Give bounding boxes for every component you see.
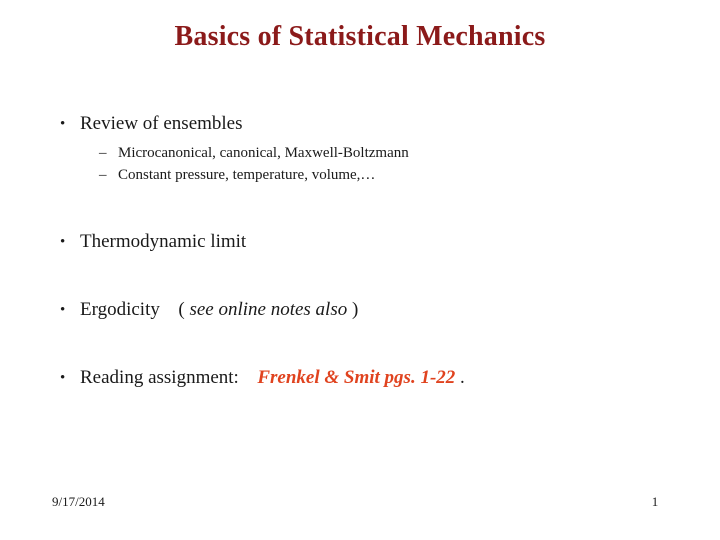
dash-marker-icon: – [99,164,107,186]
dash-marker-icon: – [99,142,107,164]
note-italic-label: see online notes also [189,299,347,320]
bullet-item-reading-assignment: • Reading assignment: Frenkel & Smit pgs… [55,366,665,390]
spacer [55,322,665,366]
spacer [55,254,665,298]
spacer [55,186,665,230]
sub-bullet-item-microcanonical: – Microcanonical, canonical, Maxwell-Bol… [55,142,665,164]
bullet-label: Reading assignment: [80,367,239,388]
bullet-marker-icon: • [60,112,65,136]
footer-page-number: 1 [640,494,670,510]
bullet-item-review-of-ensembles: • Review of ensembles [55,112,665,136]
sub-bullet-label: Microcanonical, canonical, Maxwell-Boltz… [118,145,409,161]
reading-reference-label: Frenkel & Smit pgs. 1-22 [257,367,455,388]
bullet-item-ergodicity: • Ergodicity ( see online notes also ) [55,298,665,322]
note-open-paren: ( [178,299,184,320]
bullet-marker-icon: • [60,366,65,390]
footer-date: 9/17/2014 [52,494,105,510]
note-close-paren: ) [352,299,358,320]
bullet-label: Review of ensembles [80,113,243,134]
bullet-label: Ergodicity [80,299,160,320]
bullet-marker-icon: • [60,230,65,254]
reading-reference-trailing: . [460,367,465,388]
slide-canvas: Basics of Statistical Mechanics • Review… [0,0,720,540]
sub-bullet-label: Constant pressure, temperature, volume,… [118,167,375,183]
sub-bullet-item-constant-pressure: – Constant pressure, temperature, volume… [55,164,665,186]
slide-body: • Review of ensembles – Microcanonical, … [55,112,665,390]
bullet-marker-icon: • [60,298,65,322]
page-title: Basics of Statistical Mechanics [0,20,720,54]
bullet-label: Thermodynamic limit [80,231,246,252]
bullet-item-thermodynamic-limit: • Thermodynamic limit [55,230,665,254]
